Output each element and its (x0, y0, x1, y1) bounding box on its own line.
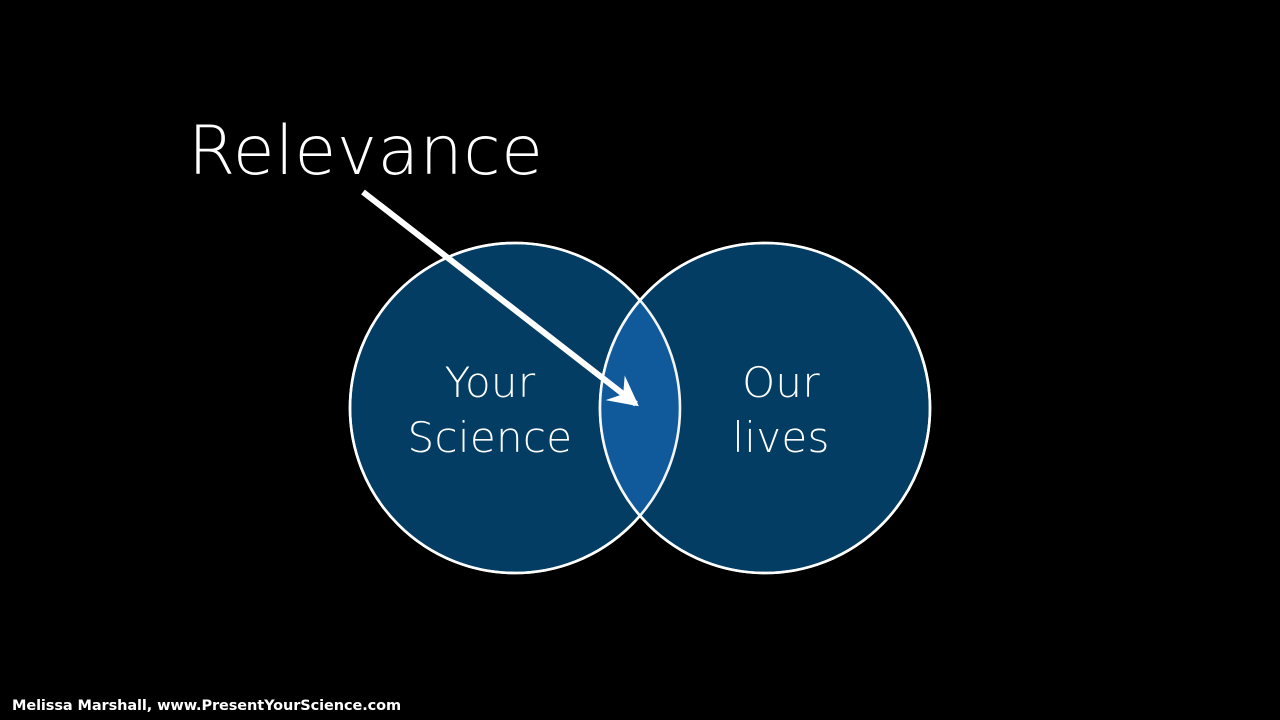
your-science-label-line1: Your (445, 358, 536, 407)
your-science-label-line2: Science (408, 413, 573, 462)
venn-diagram-graphic: Your Science Our lives Relevance Melissa… (0, 0, 1280, 720)
our-lives-label-line2: lives (732, 413, 829, 462)
page-title: Relevance (188, 112, 544, 191)
footer-credit: Melissa Marshall, www.PresentYourScience… (12, 698, 401, 714)
slide-canvas: Your Science Our lives Relevance Melissa… (0, 0, 1280, 720)
our-lives-label-line1: Our (742, 358, 820, 407)
